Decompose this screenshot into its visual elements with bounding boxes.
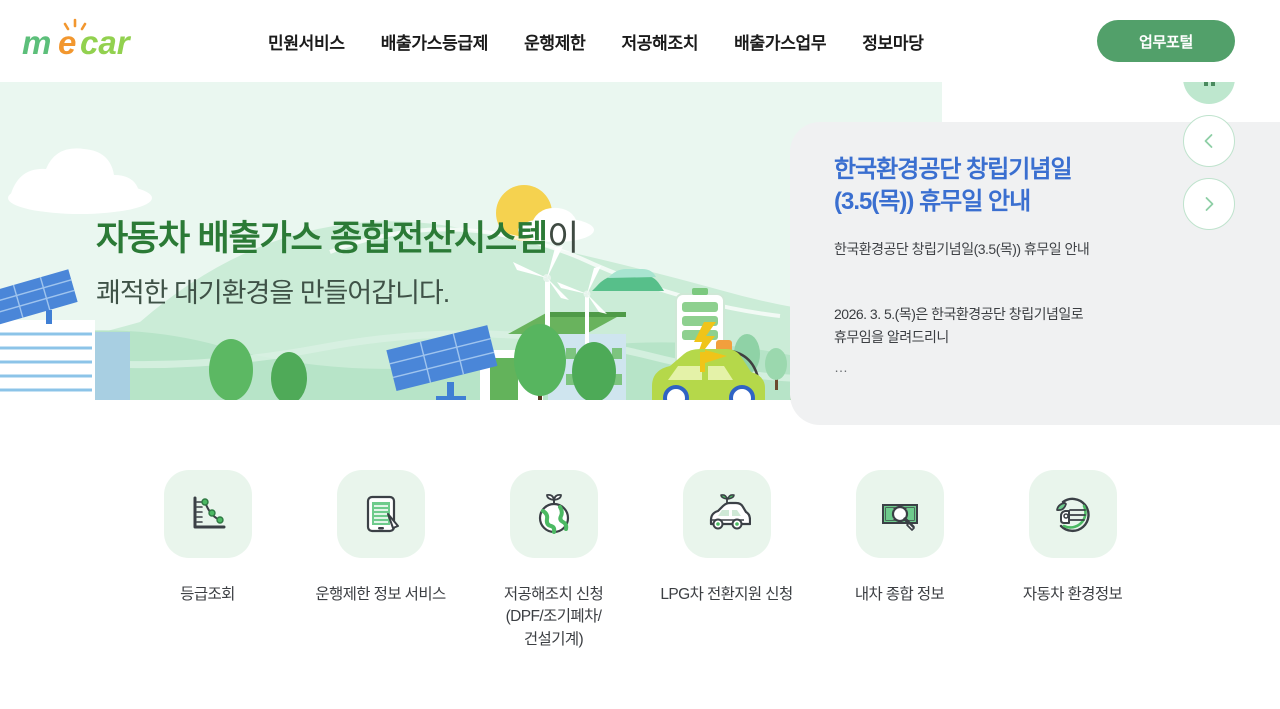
svg-text:car: car	[80, 24, 132, 61]
line-chart-icon	[184, 490, 232, 538]
tablet-pen-icon	[357, 490, 405, 538]
service-vehicle-environment-info-label: 자동차 환경정보	[1023, 584, 1122, 606]
site-logo[interactable]: m e car	[18, 16, 158, 64]
service-my-car-info[interactable]: 내차 종합 정보	[813, 470, 986, 651]
main-navigation: 민원서비스 배출가스등급제 운행제한 저공해조치 배출가스업무 정보마당	[268, 0, 924, 82]
service-low-emission-application[interactable]: 저공해조치 신청 (DPF/조기폐차/ 건설기계)	[467, 470, 640, 651]
notice-subtitle: 한국환경공단 창립기념일(3.5(목)) 휴무일 안내	[834, 239, 1154, 260]
money-search-icon	[876, 490, 924, 538]
service-grade-lookup[interactable]: 등급조회	[121, 470, 294, 651]
notice-content: 한국환경공단 창립기념일 (3.5(목)) 휴무일 안내 한국환경공단 창립기념…	[834, 154, 1154, 375]
site-header: m e car 민원서비스 배출가스등급제 운행제한 저공해조치 배출가스업무 …	[0, 0, 1280, 82]
service-driving-restriction-info[interactable]: 운행제한 정보 서비스	[294, 470, 467, 651]
service-driving-restriction-info-label: 운행제한 정보 서비스	[315, 584, 445, 606]
service-lpg-conversion-support-label: LPG차 전환지원 신청	[660, 584, 792, 606]
eco-car-icon	[703, 490, 751, 538]
carousel-prev-button[interactable]	[1183, 115, 1235, 167]
nav-item-emission-work[interactable]: 배출가스업무	[734, 29, 826, 54]
service-low-emission-application-label: 저공해조치 신청 (DPF/조기폐차/ 건설기계)	[504, 584, 603, 651]
hero-headline-strong: 자동차 배출가스 종합전산시스템	[96, 219, 547, 258]
svg-text:m: m	[22, 24, 51, 61]
service-lpg-conversion-support-tile[interactable]	[683, 470, 771, 558]
service-shortcut-list: 등급조회 운행제한 정보 서비스	[0, 470, 1280, 651]
notice-body: 2026. 3. 5.(목)은 한국환경공단 창립기념일로 휴무임을 알려드리니	[834, 303, 1154, 348]
chevron-right-icon	[1200, 195, 1218, 213]
service-my-car-info-label: 내차 종합 정보	[855, 584, 944, 606]
notice-ellipsis: …	[834, 359, 1154, 375]
solar-panel-left	[0, 269, 78, 325]
nav-item-low-emission-measure[interactable]: 저공해조치	[621, 29, 698, 54]
nav-item-info-yard[interactable]: 정보마당	[862, 29, 923, 54]
hero-text-block: 자동차 배출가스 종합전산시스템이 쾌적한 대기환경을 만들어갑니다.	[96, 217, 578, 310]
hero-headline-suffix: 이	[547, 219, 578, 258]
notice-title[interactable]: 한국환경공단 창립기념일 (3.5(목)) 휴무일 안내	[834, 154, 1154, 217]
globe-sprout-icon	[530, 490, 578, 538]
service-vehicle-environment-info-tile[interactable]	[1029, 470, 1117, 558]
nav-item-emission-grade[interactable]: 배출가스등급제	[381, 29, 488, 54]
service-lpg-conversion-support[interactable]: LPG차 전환지원 신청	[640, 470, 813, 651]
service-my-car-info-tile[interactable]	[856, 470, 944, 558]
business-portal-button[interactable]: 업무포털	[1097, 20, 1235, 62]
carousel-next-button[interactable]	[1183, 178, 1235, 230]
nav-item-civil-service[interactable]: 민원서비스	[268, 29, 345, 54]
svg-text:e: e	[58, 24, 76, 61]
service-driving-restriction-info-tile[interactable]	[337, 470, 425, 558]
hero-headline: 자동차 배출가스 종합전산시스템이	[96, 217, 578, 260]
nav-item-driving-restriction[interactable]: 운행제한	[524, 29, 585, 54]
hero-subline: 쾌적한 대기환경을 만들어갑니다.	[96, 271, 578, 310]
chevron-left-icon	[1200, 132, 1218, 150]
car-leaf-icon	[1049, 490, 1097, 538]
service-grade-lookup-label: 등급조회	[180, 584, 235, 606]
service-grade-lookup-tile[interactable]	[164, 470, 252, 558]
service-low-emission-application-tile[interactable]	[510, 470, 598, 558]
service-vehicle-environment-info[interactable]: 자동차 환경정보	[986, 470, 1159, 651]
cloud-shapes	[8, 148, 152, 214]
